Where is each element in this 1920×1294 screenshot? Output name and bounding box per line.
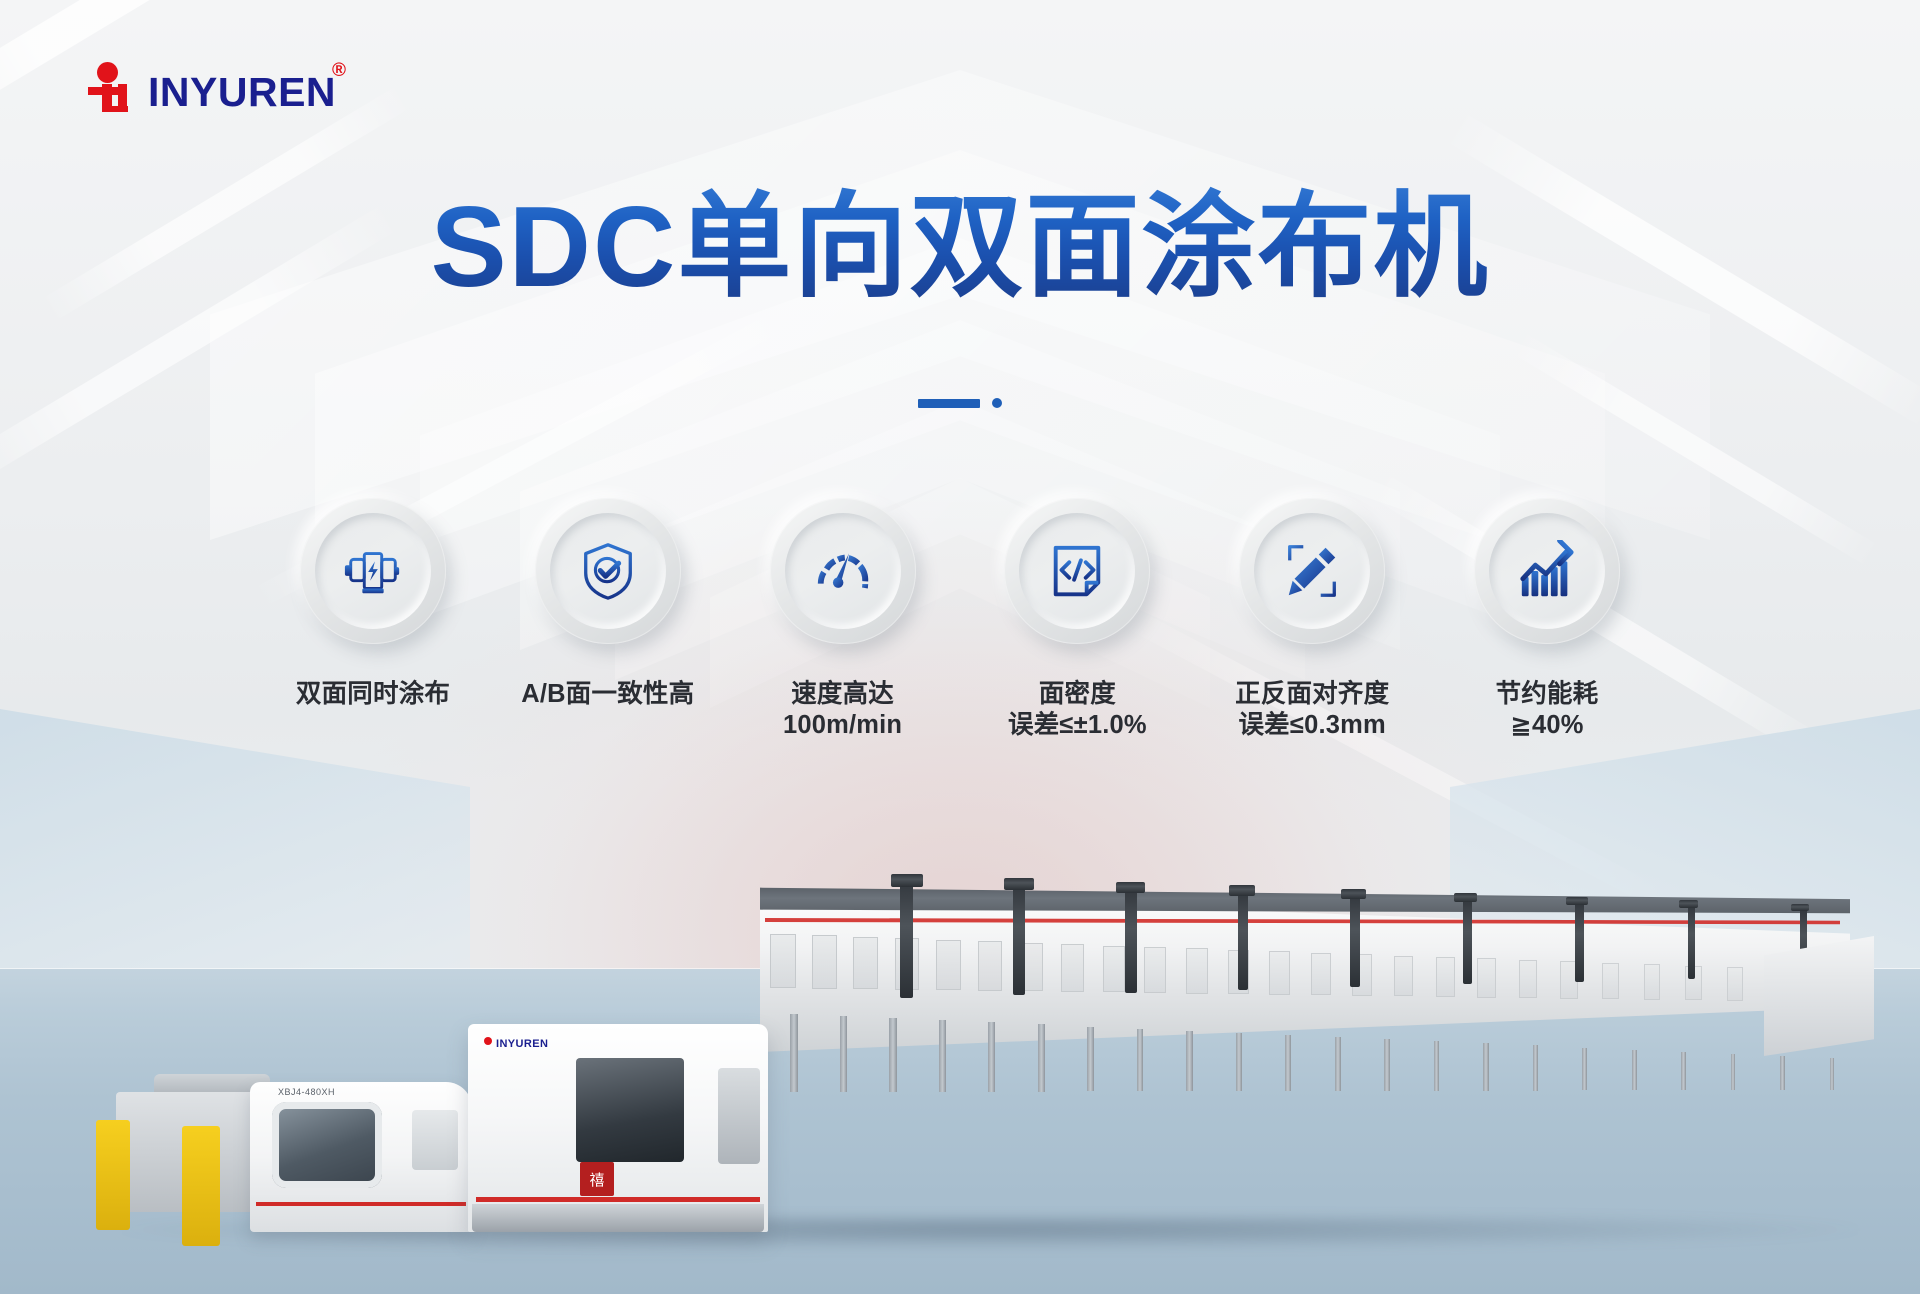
main-coater-unit: INYUREN 禧 <box>468 1024 768 1232</box>
feature-badge <box>300 498 446 644</box>
sdc-coating-machine-line: XBJ4-480XH INYUREN 禧 <box>0 864 1920 1294</box>
machine-base <box>472 1204 764 1232</box>
page-title: SDC单向双面涂布机 <box>0 186 1920 309</box>
machine-brand-label: INYUREN <box>496 1038 548 1050</box>
cabinet-view-window <box>272 1102 382 1188</box>
brand-logo[interactable]: INYUREN <box>88 62 336 112</box>
divider-dash <box>918 399 980 408</box>
shield-check-icon <box>577 540 639 602</box>
feature-label: 节约能耗 ≧40% <box>1496 679 1599 741</box>
feature-item-energy-saving[interactable]: 节约能耗 ≧40% <box>1434 498 1660 741</box>
feature-label: 正反面对齐度 误差≤0.3mm <box>1235 679 1389 741</box>
machine-plaque: 禧 <box>580 1162 614 1196</box>
line-end-module <box>1764 936 1874 1056</box>
banner-stage: INYUREN ® SDC单向双面涂布机 <box>0 0 1920 1294</box>
growth-chart-icon <box>1516 540 1578 602</box>
feature-label: 双面同时涂布 <box>296 679 450 710</box>
cabinet-accent-stripe <box>256 1202 466 1206</box>
feature-item-speed[interactable]: 速度高达 100m/min <box>730 498 956 741</box>
feature-label: 速度高达 100m/min <box>783 679 902 741</box>
feature-label: 面密度 误差≤±1.0% <box>1008 679 1147 741</box>
feature-badge <box>1004 498 1150 644</box>
cabinet-control-panel <box>412 1110 458 1170</box>
feature-item-alignment[interactable]: 正反面对齐度 误差≤0.3mm <box>1199 498 1425 741</box>
feature-badge <box>535 498 681 644</box>
cabinet-model-label: XBJ4-480XH <box>278 1087 335 1097</box>
unwinder-safety-guard-left <box>96 1120 130 1230</box>
feature-badge <box>770 498 916 644</box>
feature-label: A/B面一致性高 <box>521 679 694 710</box>
machine-accent-stripe <box>476 1197 760 1202</box>
coating-cabinet: XBJ4-480XH <box>250 1082 472 1232</box>
document-code-icon <box>1046 540 1108 602</box>
feature-list: 双面同时涂布 A/B面一致性高 <box>260 498 1660 741</box>
speedometer-icon <box>812 540 874 602</box>
battery-coating-icon <box>342 540 404 602</box>
tunnel-legs <box>790 1014 1850 1104</box>
inyuren-figure-mark-icon <box>88 62 135 112</box>
unwinder-safety-guard-right <box>182 1126 220 1246</box>
machine-dark-window <box>576 1058 684 1162</box>
feature-badge <box>1474 498 1620 644</box>
pencil-ruler-icon <box>1281 540 1343 602</box>
brand-wordmark: INYUREN <box>148 74 336 112</box>
feature-item-dual-side-coating[interactable]: 双面同时涂布 <box>260 498 486 741</box>
registered-trademark-symbol: ® <box>332 60 346 82</box>
title-divider <box>0 398 1920 408</box>
feature-item-areal-density[interactable]: 面密度 误差≤±1.0% <box>964 498 1190 741</box>
feature-item-ab-consistency[interactable]: A/B面一致性高 <box>495 498 721 741</box>
machine-side-panel <box>718 1068 760 1164</box>
feature-badge <box>1239 498 1385 644</box>
machine-logo-dot-icon <box>484 1037 492 1045</box>
divider-dot <box>992 398 1002 408</box>
